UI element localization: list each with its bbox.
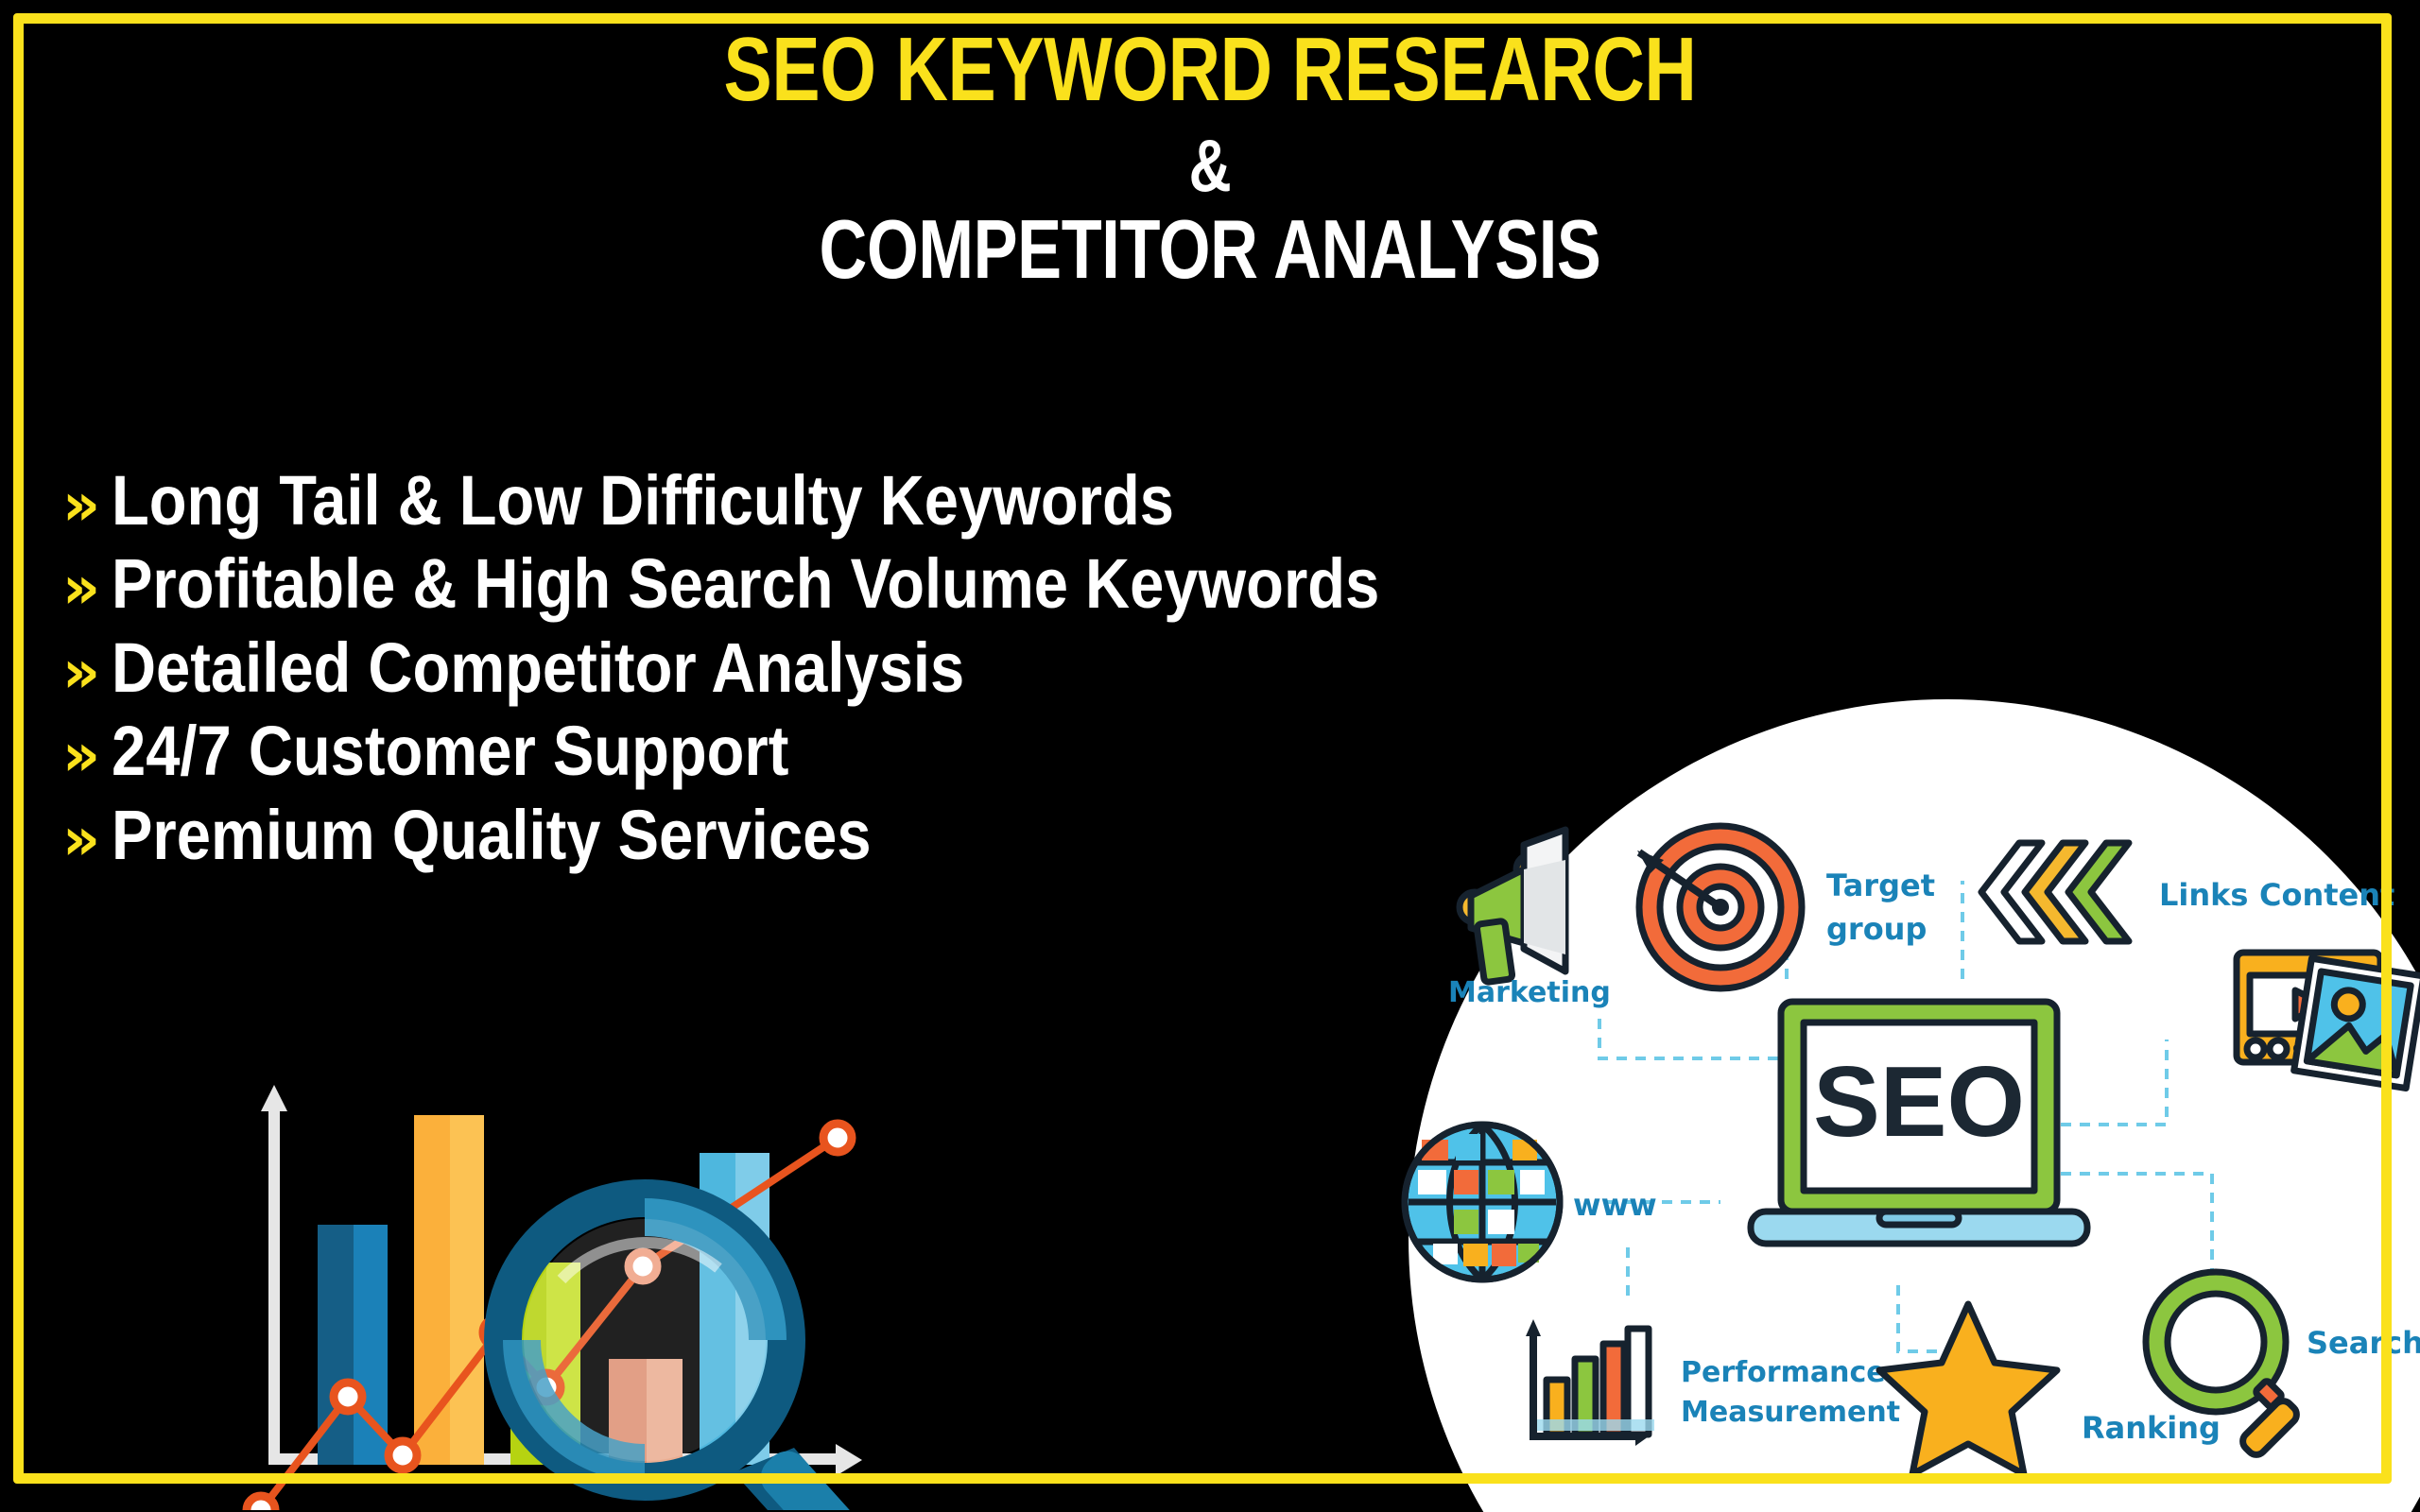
node-label-search: Search [2307,1325,2420,1361]
performance-chart-icon [1526,1319,1654,1446]
links-chevrons-icon [1981,843,2129,941]
list-item: » 24/7 Customer Support [62,715,1552,786]
list-item-label: Premium Quality Services [112,799,872,870]
feature-list: » Long Tail & Low Difficulty Keywords » … [62,465,1552,883]
double-chevron-icon: » [62,643,112,701]
node-label-links: Links [2159,877,2248,913]
laptop-seo-icon: SEO [1751,1002,2087,1244]
node-label-target-line2: group [1826,911,1927,947]
node-label-target-line1: Target [1826,868,1935,903]
star-icon [1879,1304,2057,1474]
node-label-ranking: Ranking [2082,1410,2221,1446]
bar-chart-magnifier-illustration [234,1066,896,1510]
node-label-www: www [1573,1187,1657,1223]
list-item-label: Profitable & High Search Volume Keywords [112,548,1379,619]
list-item-label: Long Tail & Low Difficulty Keywords [112,465,1174,536]
page-title-line1: SEO KEYWORD RESEARCH [242,25,2178,115]
double-chevron-icon: » [62,475,112,534]
laptop-screen-text: SEO [1813,1046,2025,1158]
node-label-content: Content [2259,877,2394,913]
list-item: » Profitable & High Search Volume Keywor… [62,548,1552,619]
node-label-performance-line2: Measurement [1681,1396,1900,1429]
double-chevron-icon: » [62,726,112,784]
header: SEO KEYWORD RESEARCH & COMPETITOR ANALYS… [0,25,2420,291]
double-chevron-icon: » [62,558,112,617]
node-label-marketing: Marketing [1448,976,1611,1009]
content-media-icon [2237,953,2420,1089]
page-title-ampersand: & [242,129,2178,202]
globe-icon [1405,1125,1560,1280]
page-title-line3: COMPETITOR ANALYSIS [242,208,2178,291]
list-item: » Detailed Competitor Analysis [62,632,1552,703]
list-item: » Long Tail & Low Difficulty Keywords [62,465,1552,536]
list-item-label: Detailed Competitor Analysis [112,632,964,703]
list-item-label: 24/7 Customer Support [112,715,788,786]
poster-canvas: SEO KEYWORD RESEARCH & COMPETITOR ANALYS… [0,0,2420,1512]
target-icon [1637,826,1802,988]
double-chevron-icon: » [62,810,112,868]
node-label-performance-line1: Performance [1681,1356,1886,1389]
list-item: » Premium Quality Services [62,799,1552,870]
